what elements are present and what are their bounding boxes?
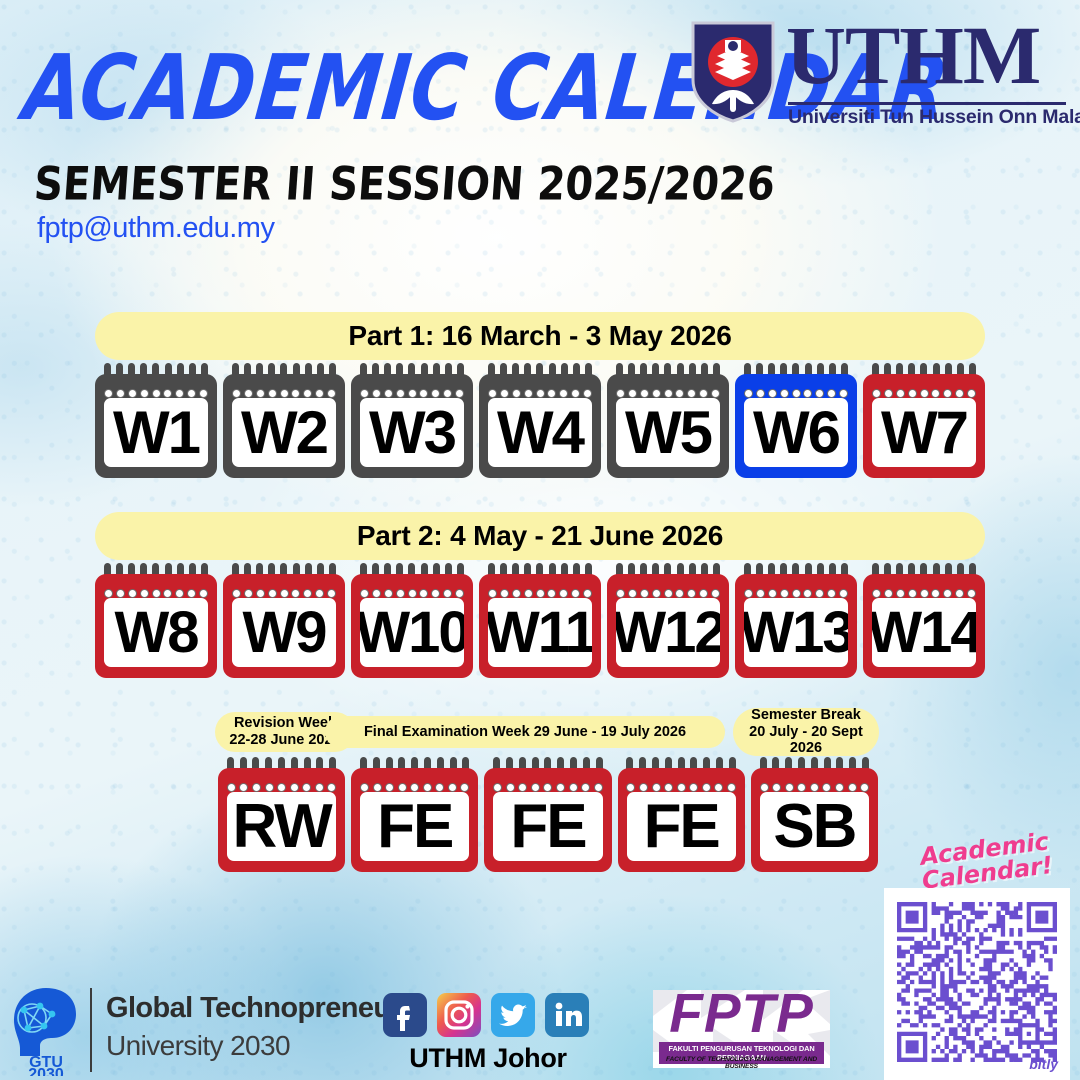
- gtu-2030-logo: GTU 2030 Global Technopreneur University…: [6, 984, 346, 1076]
- week-card-page: W6: [744, 398, 848, 467]
- week-card[interactable]: FE: [618, 757, 745, 872]
- week-card-label: SB: [773, 796, 855, 858]
- uthm-logo: UTHM Universiti Tun Hussein Onn Malaysia: [690, 18, 1068, 130]
- week-card-page: FE: [493, 792, 602, 861]
- svg-text:2030: 2030: [28, 1066, 64, 1076]
- revision-week-line2: 22-28 June 2026: [229, 732, 340, 749]
- week-card[interactable]: FE: [351, 757, 478, 872]
- academic-calendar-poster: ACADEMIC CALENDAR SEMESTER II SESSION 20…: [0, 0, 1080, 1080]
- week-card-frame: W11: [479, 574, 601, 678]
- week-card-label: W2: [241, 403, 327, 463]
- week-card-page: FE: [627, 792, 736, 861]
- gtu-head-network-icon: GTU 2030: [10, 984, 82, 1076]
- week-card-frame: W12: [607, 574, 729, 678]
- week-card-label: W10: [360, 604, 464, 662]
- week-card-page: W7: [872, 398, 976, 467]
- facebook-icon[interactable]: [383, 993, 427, 1037]
- fptp-wordmark: FPTP: [653, 990, 830, 1041]
- week-card-label: RW: [233, 796, 331, 858]
- page-subtitle: SEMESTER II SESSION 2025/2026: [32, 158, 776, 211]
- week-card-frame: W6: [735, 374, 857, 478]
- week-card-page: SB: [760, 792, 869, 861]
- week-card-page: W10: [360, 598, 464, 667]
- linkedin-icon[interactable]: [545, 993, 589, 1037]
- week-card-label: W7: [881, 403, 967, 463]
- week-card[interactable]: W3: [351, 363, 473, 478]
- week-card-frame: W5: [607, 374, 729, 478]
- semester-break-line2: 20 July - 20 Sept: [749, 724, 863, 741]
- week-card[interactable]: W7: [863, 363, 985, 478]
- week-card[interactable]: W8: [95, 563, 217, 678]
- week-card-page: W11: [488, 598, 592, 667]
- week-card-frame: W8: [95, 574, 217, 678]
- week-card-page: W14: [872, 598, 976, 667]
- week-card[interactable]: W14: [863, 563, 985, 678]
- social-media-block: UTHM Johor: [383, 993, 593, 1080]
- week-card-label: W9: [243, 604, 326, 662]
- uthm-rule: [788, 102, 1066, 105]
- week-card-page: W2: [232, 398, 336, 467]
- part2-banner: Part 2: 4 May - 21 June 2026: [95, 512, 985, 560]
- week-card-frame: W9: [223, 574, 345, 678]
- week-card-page: W13: [744, 598, 848, 667]
- week-card-frame: SB: [751, 768, 878, 872]
- week-card-page: W12: [616, 598, 720, 667]
- week-card-label: FE: [510, 796, 585, 858]
- week-card-frame: W4: [479, 374, 601, 478]
- qr-code-matrix[interactable]: [897, 902, 1057, 1062]
- week-card[interactable]: W5: [607, 363, 729, 478]
- week-card-label: W1: [113, 403, 199, 463]
- qr-code[interactable]: bitly: [884, 888, 1070, 1080]
- week-card-page: W3: [360, 398, 464, 467]
- fptp-logo: FPTP FAKULTI PENGURUSAN TEKNOLOGI DAN PE…: [653, 990, 830, 1068]
- qr-caption: Academic Calendar!: [898, 828, 1074, 896]
- week-card-page: W9: [232, 598, 336, 667]
- week-card[interactable]: W11: [479, 563, 601, 678]
- semester-break-banner: Semester Break 20 July - 20 Sept 2026: [733, 708, 879, 756]
- week-card-frame: W13: [735, 574, 857, 678]
- week-card-frame: FE: [484, 768, 611, 872]
- instagram-icon[interactable]: [437, 993, 481, 1037]
- week-card[interactable]: W4: [479, 363, 601, 478]
- week-card-frame: W1: [95, 374, 217, 478]
- week-card[interactable]: W12: [607, 563, 729, 678]
- week-card-frame: W10: [351, 574, 473, 678]
- part1-banner: Part 1: 16 March - 3 May 2026: [95, 312, 985, 360]
- week-card[interactable]: FE: [484, 757, 611, 872]
- week-card-page: RW: [227, 792, 336, 861]
- semester-break-line1: Semester Break: [751, 707, 861, 724]
- week-card[interactable]: W10: [351, 563, 473, 678]
- fptp-faculty-en: FACULTY OF TECHNOLOGY MANAGEMENT AND BUS…: [659, 1056, 824, 1068]
- final-exam-banner: Final Examination Week 29 June - 19 July…: [325, 716, 725, 748]
- week-card-label: W3: [369, 403, 455, 463]
- week-card-page: W4: [488, 398, 592, 467]
- uthm-crest-icon: [690, 20, 776, 124]
- week-card-label: W5: [625, 403, 711, 463]
- week-card[interactable]: W1: [95, 363, 217, 478]
- twitter-icon[interactable]: [491, 993, 535, 1037]
- semester-break-line3: 2026: [790, 740, 822, 757]
- week-card-label: FE: [377, 796, 452, 858]
- week-card-frame: RW: [218, 768, 345, 872]
- contact-email[interactable]: fptp@uthm.edu.my: [37, 212, 274, 245]
- week-card-frame: W14: [863, 574, 985, 678]
- week-card-label: W13: [744, 604, 848, 662]
- week-card[interactable]: W6: [735, 363, 857, 478]
- week-card-frame: FE: [351, 768, 478, 872]
- week-card[interactable]: SB: [751, 757, 878, 872]
- uthm-tagline: Universiti Tun Hussein Onn Malaysia: [788, 106, 1070, 129]
- week-card-label: FE: [644, 796, 719, 858]
- week-card-frame: FE: [618, 768, 745, 872]
- social-handle: UTHM Johor: [383, 1043, 593, 1074]
- week-card-label: W6: [753, 403, 839, 463]
- week-card[interactable]: W13: [735, 563, 857, 678]
- week-card-page: W5: [616, 398, 720, 467]
- week-card-page: W1: [104, 398, 208, 467]
- week-card[interactable]: W9: [223, 563, 345, 678]
- week-card-label: W8: [115, 604, 198, 662]
- gtu-title-line1: Global Technopreneur: [106, 992, 401, 1025]
- final-exam-line1: Final Examination Week 29 June - 19 July…: [364, 724, 686, 741]
- week-card-label: W11: [488, 604, 592, 662]
- week-card-label: W12: [616, 604, 720, 662]
- gtu-divider: [90, 988, 92, 1072]
- week-card[interactable]: W2: [223, 363, 345, 478]
- week-card-frame: W2: [223, 374, 345, 478]
- week-card-label: W14: [872, 604, 976, 662]
- week-card-label: W4: [497, 403, 583, 463]
- gtu-title-line2: University 2030: [106, 1030, 290, 1062]
- week-card-frame: W7: [863, 374, 985, 478]
- week-card-page: W8: [104, 598, 208, 667]
- uthm-wordmark: UTHM: [786, 14, 1040, 97]
- week-card-frame: W3: [351, 374, 473, 478]
- revision-week-line1: Revision Week: [234, 715, 336, 732]
- bitly-brand: bitly: [1029, 1056, 1058, 1072]
- week-card-page: FE: [360, 792, 469, 861]
- week-card[interactable]: RW: [218, 757, 345, 872]
